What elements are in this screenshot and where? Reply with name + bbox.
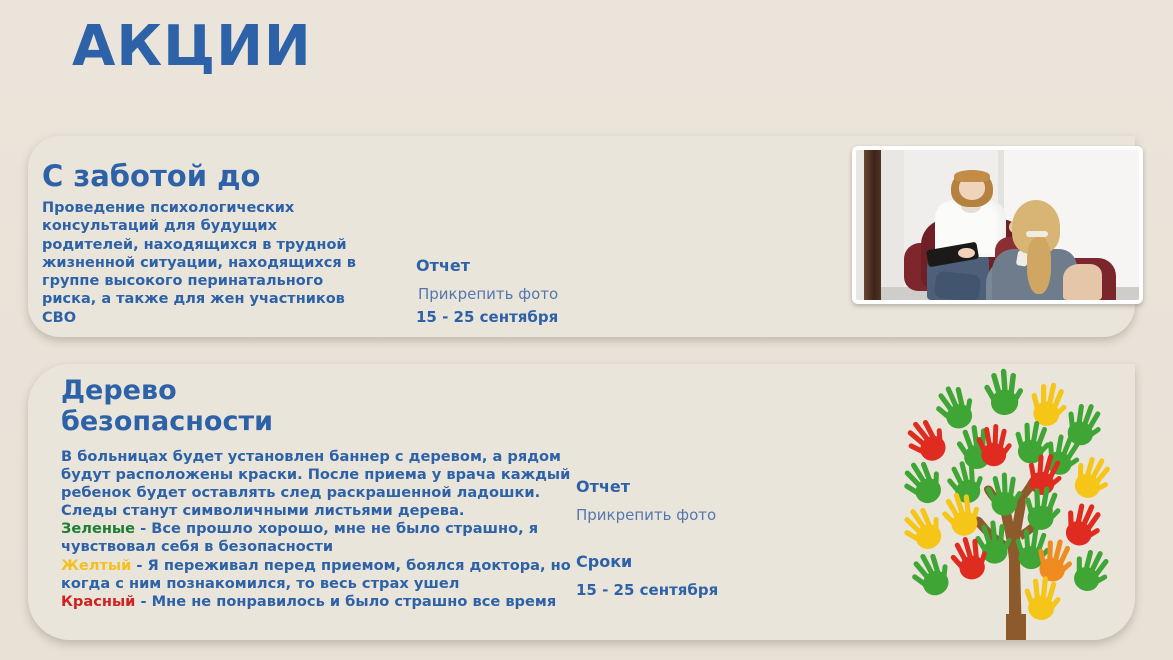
promo-card-care[interactable]: С заботой до Проведение психологических … <box>28 136 1135 337</box>
legend-swatch-yellow: Желтый <box>61 557 131 574</box>
card-2-body-line: ребенок будет оставлять след раскрашенно… <box>61 484 571 502</box>
legend-row-red: Красный - Мне не понравилось и было стра… <box>61 593 571 611</box>
page-title: АКЦИИ <box>72 18 312 77</box>
slide-page: АКЦИИ С заботой до Проведение психологич… <box>0 0 1173 660</box>
legend-row-green: Зеленые - Все прошло хорошо, мне не было… <box>61 520 571 538</box>
legend-text-green-cont: чувствовал себя в безопасности <box>61 538 571 556</box>
promo-card-safety-tree[interactable]: Дерево безопасности В больницах будет ус… <box>28 364 1135 640</box>
legend-text-red: - Мне не понравилось и было страшно все … <box>135 593 556 610</box>
legend-text-yellow: - Я переживал перед приемом, боялся докт… <box>131 557 570 574</box>
card-1-heading: С заботой до <box>42 160 260 192</box>
card-2-body-line: будут расположены краски. После приема у… <box>61 466 571 484</box>
consultation-photo <box>856 150 1139 300</box>
card-2-heading: Дерево безопасности <box>61 376 273 438</box>
card-2-meta: Отчет Прикрепить фото Сроки 15 - 25 сент… <box>576 477 718 599</box>
card-1-description: Проведение психологических консультаций … <box>42 199 362 327</box>
card-2-deadline-label: Сроки <box>576 552 718 571</box>
card-1-attach-photo[interactable]: Прикрепить фото <box>418 285 558 303</box>
card-2-body-line: В больницах будет установлен баннер с де… <box>61 448 571 466</box>
card-2-attach-photo[interactable]: Прикрепить фото <box>576 506 718 524</box>
card-2-description: В больницах будет установлен баннер с де… <box>61 448 571 611</box>
handprint-tree-svg <box>876 364 1163 640</box>
card-2-report-label: Отчет <box>576 477 718 496</box>
card-1-dates: 15 - 25 сентября <box>416 308 558 326</box>
card-2-body-line: Следы станут символичными листьями дерев… <box>61 502 571 520</box>
legend-row-yellow: Желтый - Я переживал перед приемом, боял… <box>61 557 571 575</box>
legend-swatch-red: Красный <box>61 593 135 610</box>
safety-tree-illustration <box>876 364 1163 640</box>
consultation-photo-frame <box>852 146 1143 304</box>
legend-text-green: - Все прошло хорошо, мне не было страшно… <box>135 520 538 537</box>
legend-text-yellow-cont: когда с ним познакомился, то весь страх … <box>61 575 571 593</box>
legend-swatch-green: Зеленые <box>61 520 135 537</box>
card-2-dates: 15 - 25 сентября <box>576 581 718 599</box>
card-1-report-label: Отчет <box>416 256 558 275</box>
card-1-meta: Отчет Прикрепить фото 15 - 25 сентября <box>416 256 558 326</box>
